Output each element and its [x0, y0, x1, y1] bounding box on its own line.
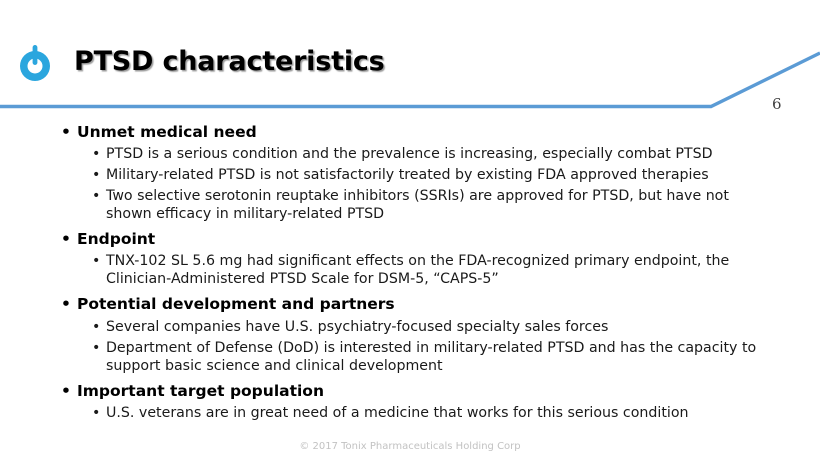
level2-bullet-icon: •: [92, 339, 100, 357]
footer-copyright: © 2017 Tonix Pharmaceuticals Holding Cor…: [0, 441, 820, 452]
section-heading-label: Unmet medical need: [77, 123, 257, 141]
section-heading: • Potential development and partners: [56, 294, 770, 314]
level1-bullet-icon: •: [61, 122, 71, 142]
level2-bullet-icon: •: [92, 318, 100, 336]
level1-bullet-icon: •: [61, 381, 71, 401]
sub-bullet-text: Department of Defense (DoD) is intereste…: [106, 340, 756, 374]
sub-bullet-text: TNX-102 SL 5.6 mg had significant effect…: [106, 253, 729, 287]
sub-bullet-item: • Two selective serotonin reuptake inhib…: [56, 187, 770, 223]
sub-bullet-item: • TNX-102 SL 5.6 mg had significant effe…: [56, 252, 770, 288]
tonix-power-button-logo-icon: [11, 41, 59, 89]
sub-bullet-text: Two selective serotonin reuptake inhibit…: [106, 188, 729, 222]
level1-bullet-icon: •: [61, 229, 71, 249]
content-section: • Potential development and partners • S…: [56, 294, 770, 374]
sub-bullet-item: • Department of Defense (DoD) is interes…: [56, 339, 770, 375]
section-heading: • Unmet medical need: [56, 122, 770, 142]
level1-bullet-icon: •: [61, 294, 71, 314]
sub-bullet-text: Military-related PTSD is not satisfactor…: [106, 167, 709, 183]
sub-bullet-text: Several companies have U.S. psychiatry-f…: [106, 319, 608, 335]
content-section: • Unmet medical need • PTSD is a serious…: [56, 122, 770, 223]
sub-bullet-item: • Military-related PTSD is not satisfact…: [56, 166, 770, 184]
level2-bullet-icon: •: [92, 252, 100, 270]
slide-body-content: • Unmet medical need • PTSD is a serious…: [56, 122, 770, 423]
section-heading-label: Endpoint: [77, 230, 155, 248]
section-heading: • Endpoint: [56, 229, 770, 249]
section-heading-label: Potential development and partners: [77, 295, 395, 313]
page-title: PTSD characteristics: [74, 46, 385, 77]
content-section: • Important target population • U.S. vet…: [56, 381, 770, 422]
content-section: • Endpoint • TNX-102 SL 5.6 mg had signi…: [56, 229, 770, 288]
section-heading: • Important target population: [56, 381, 770, 401]
section-heading-label: Important target population: [77, 382, 324, 400]
page-number: 6: [772, 95, 782, 113]
sub-bullet-item: • PTSD is a serious condition and the pr…: [56, 145, 770, 163]
sub-bullet-text: PTSD is a serious condition and the prev…: [106, 146, 713, 162]
sub-bullet-item: • U.S. veterans are in great need of a m…: [56, 404, 770, 422]
level2-bullet-icon: •: [92, 166, 100, 184]
level2-bullet-icon: •: [92, 404, 100, 422]
level2-bullet-icon: •: [92, 187, 100, 205]
level2-bullet-icon: •: [92, 145, 100, 163]
sub-bullet-text: U.S. veterans are in great need of a med…: [106, 405, 689, 421]
sub-bullet-item: • Several companies have U.S. psychiatry…: [56, 318, 770, 336]
presentation-slide: PTSD characteristics 6 • Unmet medical n…: [0, 0, 820, 461]
